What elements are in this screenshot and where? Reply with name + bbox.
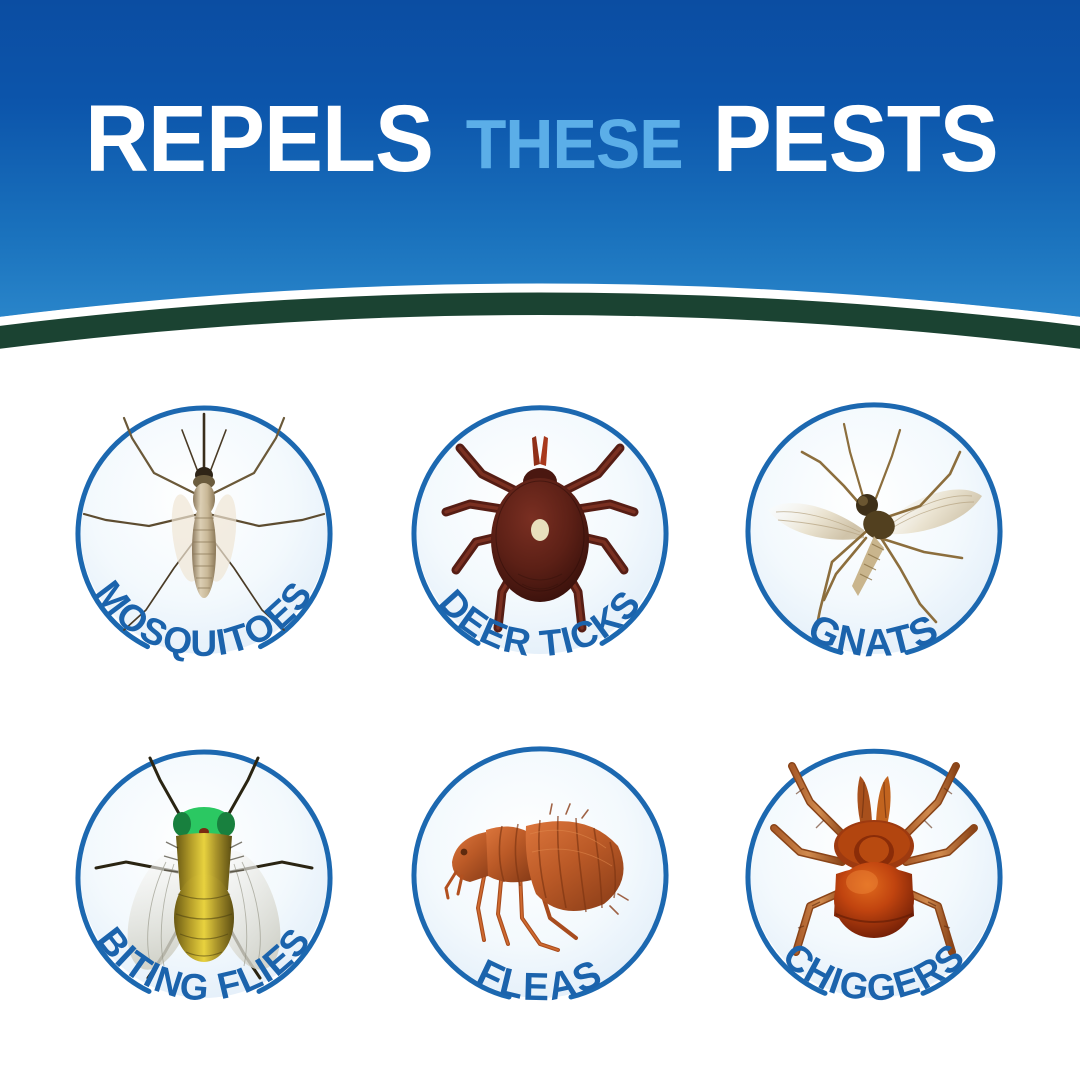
- title-word-pests: PESTS: [713, 92, 998, 187]
- pest-badge-mosquitoes[interactable]: MOSQUITOES: [54, 378, 354, 688]
- pest-badge-deer-ticks[interactable]: DEER TICKS: [390, 378, 690, 688]
- pest-badge-fleas[interactable]: FLEAS: [390, 722, 690, 1032]
- pest-badge-gnats[interactable]: GNATS: [724, 378, 1024, 688]
- repels-these-pests-poster: REPELSTHESEPESTS: [0, 0, 1080, 1080]
- title-word-repels: REPELS: [85, 92, 433, 187]
- pest-badge-chiggers[interactable]: CHIGGERS: [724, 722, 1024, 1032]
- title-word-these: THESE: [452, 109, 696, 179]
- page-title: REPELSTHESEPESTS: [0, 92, 1080, 187]
- pest-badge-biting-flies[interactable]: BITING FLIES: [54, 722, 354, 1032]
- pest-badge-grid: MOSQUITOES: [0, 360, 1080, 1060]
